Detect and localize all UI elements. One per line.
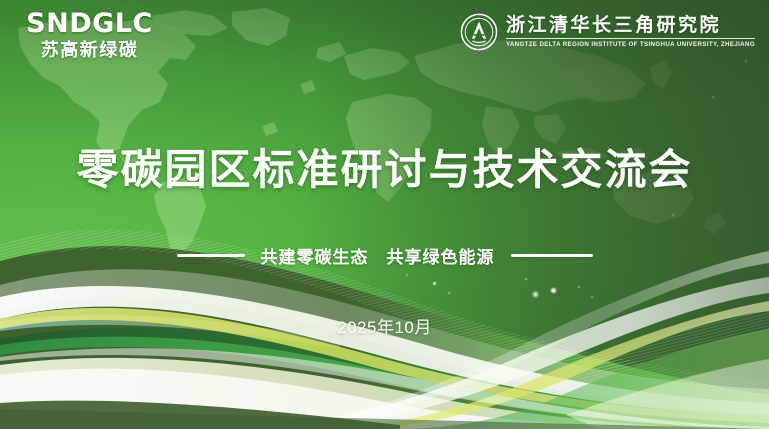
- presentation-title-slide: SNDGLC 苏高新绿碳 浙江清华长三角研究院 YANGTZE DELTA RE…: [0, 0, 769, 429]
- wave-ribbon-icon: [0, 189, 769, 429]
- logo-wordmark: SNDGLC: [22, 10, 157, 37]
- institute-seal-icon: [460, 13, 498, 51]
- page-title: 零碳园区标准研讨与技术交流会: [0, 147, 769, 193]
- company-logo-sndglc: SNDGLC 苏高新绿碳: [22, 10, 157, 59]
- institute-name-english: YANGTZE DELTA REGION INSTITUTE OF TSINGH…: [506, 38, 755, 48]
- subtitle-rule-right: [511, 254, 593, 257]
- subtitle-row: 共建零碳生态 共享绿色能源: [0, 243, 769, 268]
- institute-logo-block: 浙江清华长三角研究院 YANGTZE DELTA REGION INSTITUT…: [460, 13, 755, 51]
- subtitle-text: 共建零碳生态 共享绿色能源: [261, 243, 495, 268]
- event-date: 2025年10月: [0, 313, 769, 338]
- logo-chinese-name: 苏高新绿碳: [22, 41, 157, 59]
- subtitle-rule-left: [177, 254, 245, 257]
- institute-name-chinese: 浙江清华长三角研究院: [506, 16, 755, 36]
